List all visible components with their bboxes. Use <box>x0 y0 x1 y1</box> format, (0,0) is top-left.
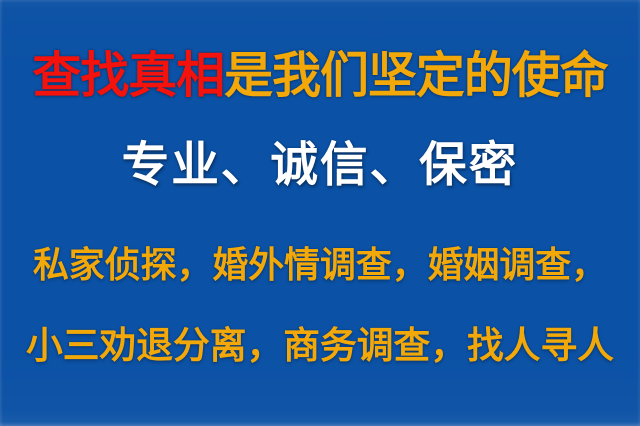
core-values-line: 专业、诚信、保密 <box>0 142 640 190</box>
service-list-line-2: 小三劝退分离，商务调查，找人寻人 <box>0 328 640 365</box>
poster-top-edge <box>0 0 640 3</box>
service-list-line-1: 私家侦探，婚外情调查，婚姻调查， <box>0 248 640 284</box>
headline-emphasis-text: 查找真相 <box>32 47 224 104</box>
headline-rest-text: 是我们坚定的使命 <box>224 47 608 104</box>
poster-bottom-edge <box>0 422 640 426</box>
headline: 查找真相是我们坚定的使命 <box>0 52 640 101</box>
advertisement-poster: 查找真相是我们坚定的使命 专业、诚信、保密 私家侦探，婚外情调查，婚姻调查， 小… <box>0 0 640 426</box>
